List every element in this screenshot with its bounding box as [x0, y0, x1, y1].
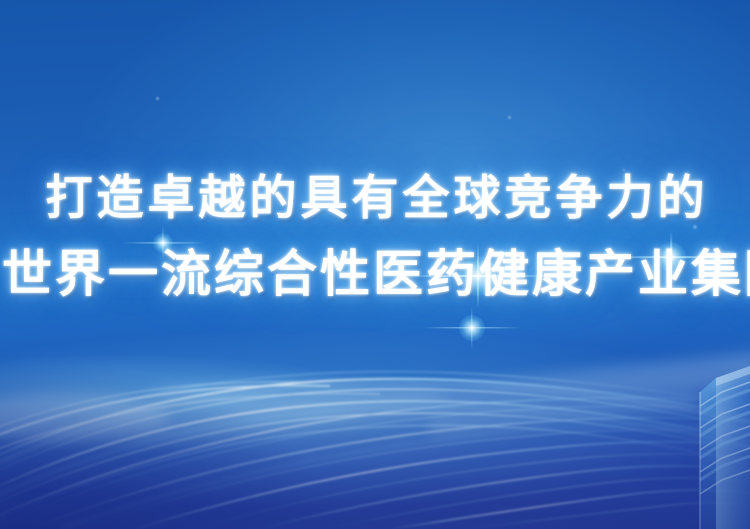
chevron-tower-silhouette — [699, 366, 750, 529]
headline-line-2: 世界一流综合性医药健康产业集团 — [0, 249, 750, 299]
corporate-vision-banner: 打造卓越的具有全球竞争力的 世界一流综合性医药健康产业集团 — [0, 0, 750, 529]
headline-block: 打造卓越的具有全球竞争力的 世界一流综合性医药健康产业集团 — [0, 176, 750, 299]
headline-line-1: 打造卓越的具有全球竞争力的 — [0, 176, 750, 223]
